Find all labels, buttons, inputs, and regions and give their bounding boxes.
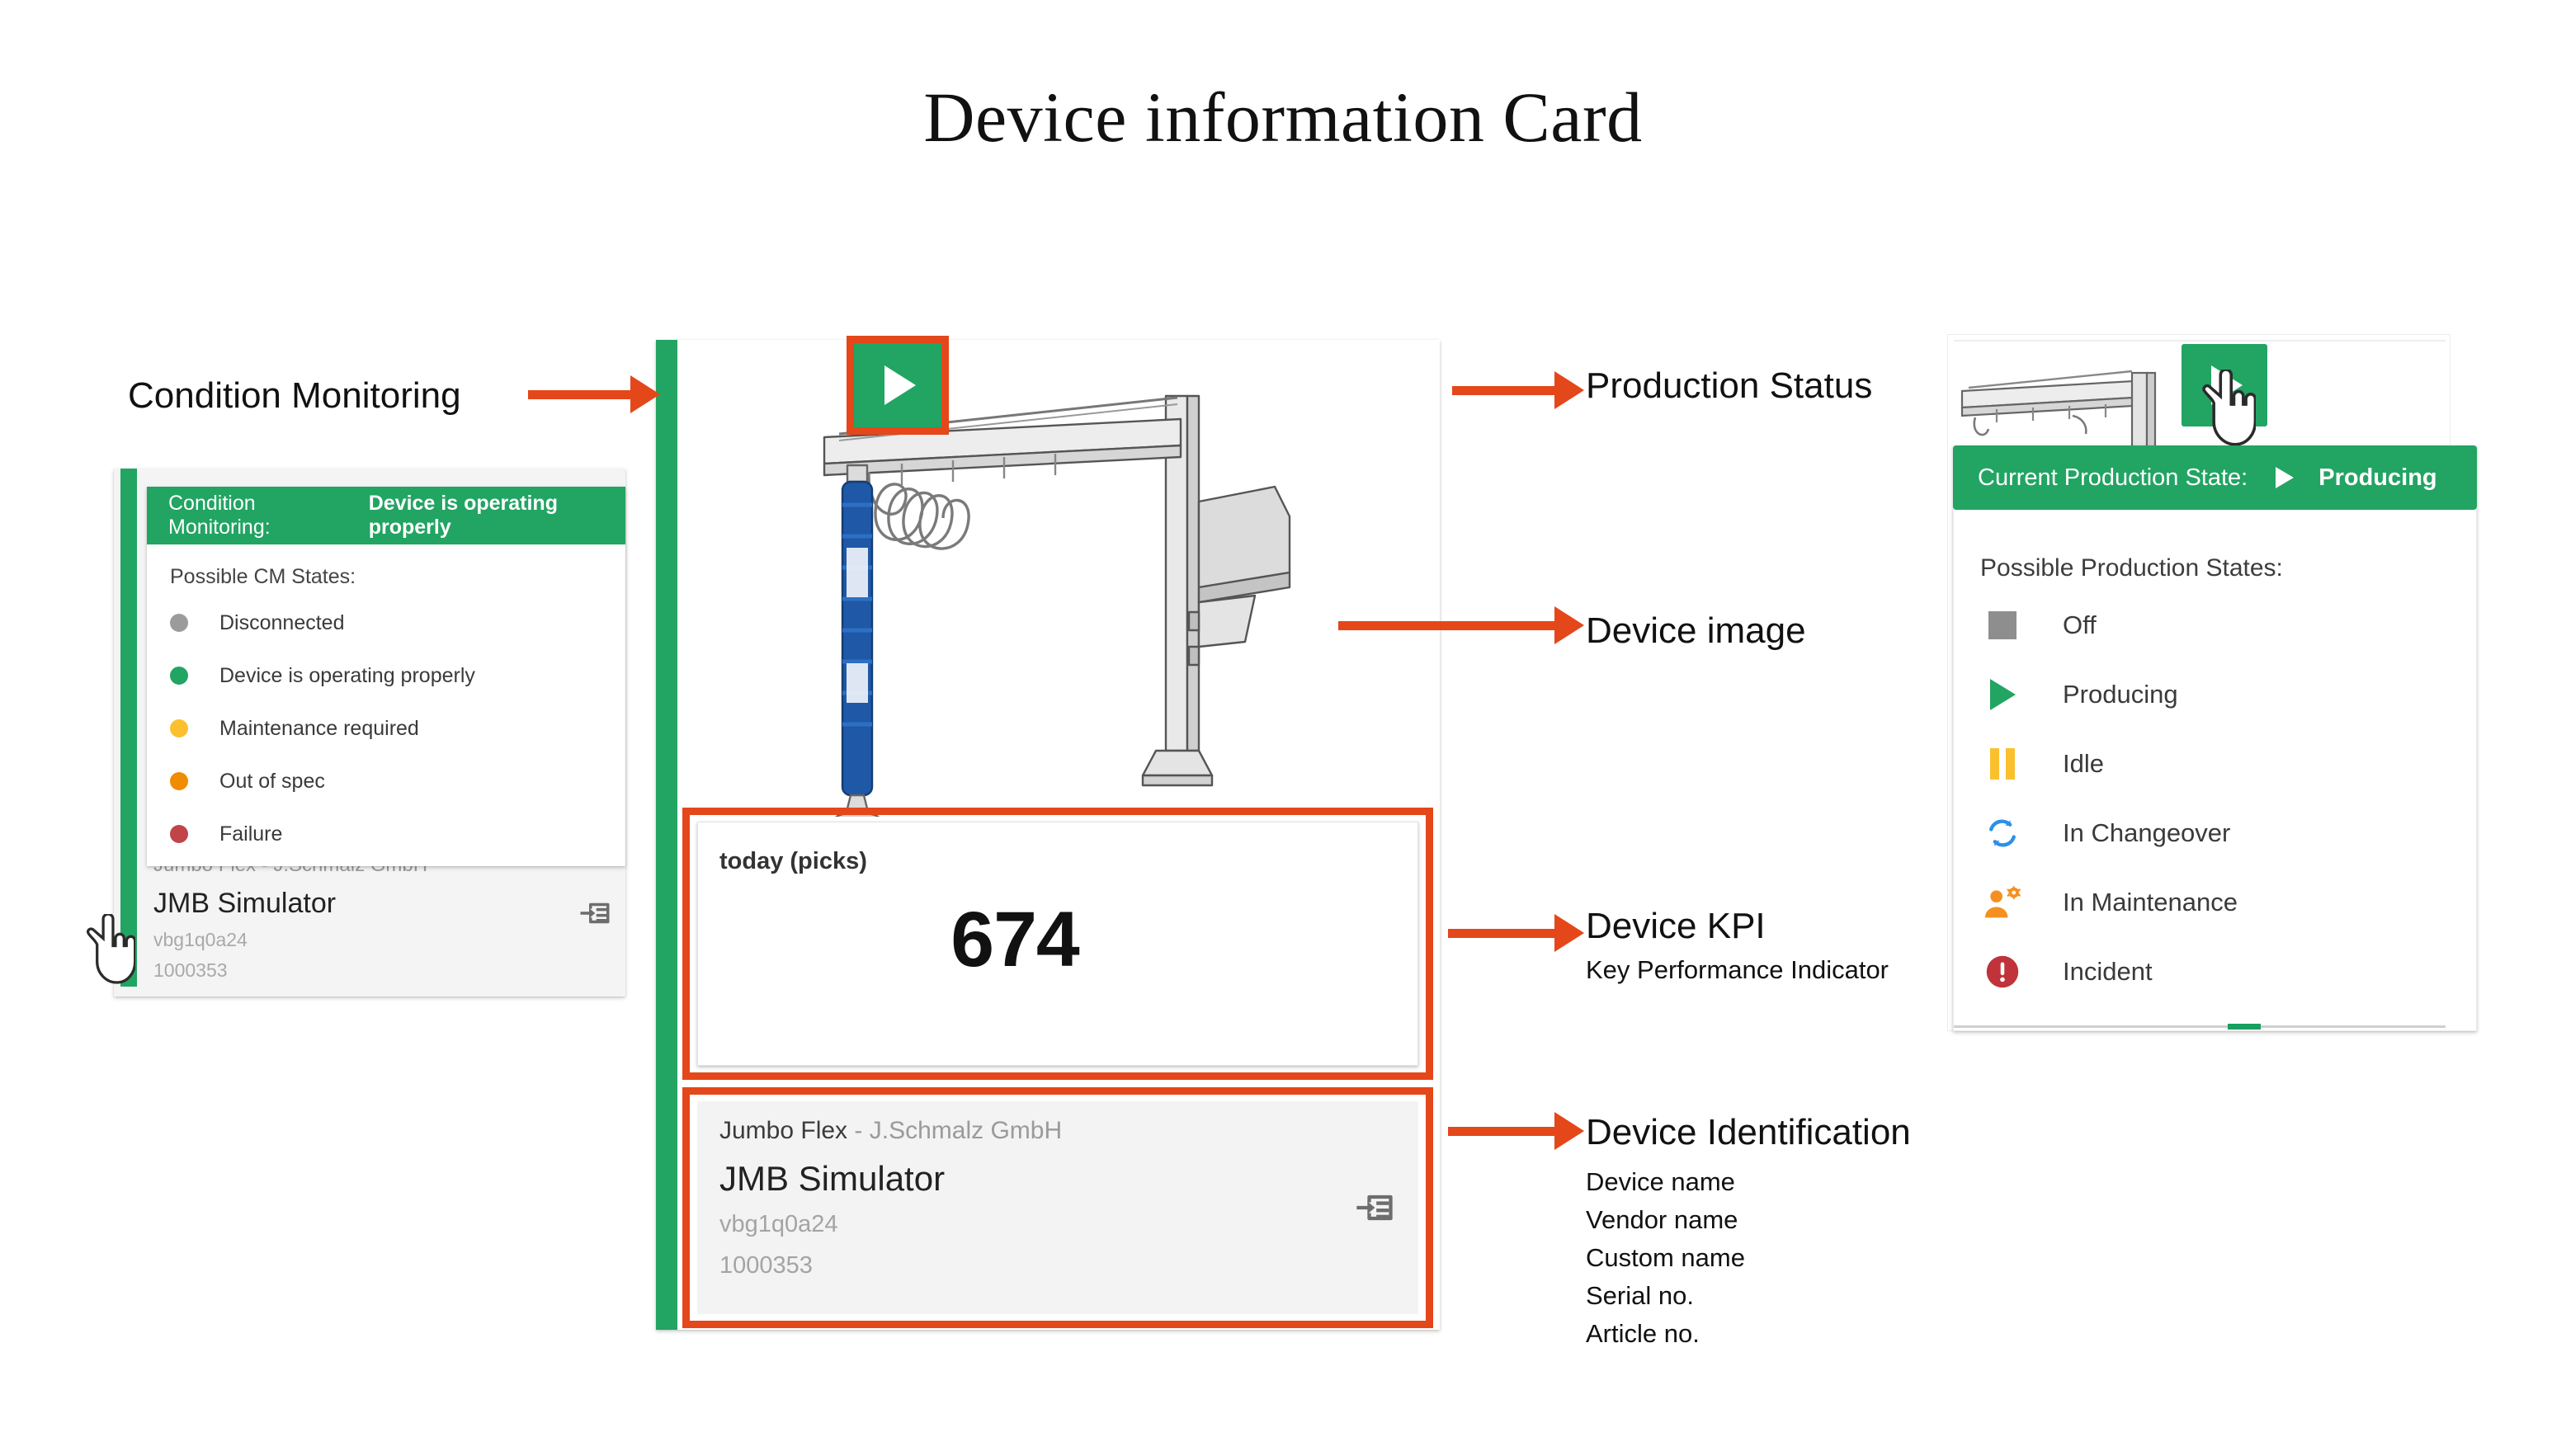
annotation-identification-fields: Device name Vendor name Custom name Seri… bbox=[1586, 1163, 1745, 1353]
annotation-device-kpi: Device KPI bbox=[1586, 906, 1766, 947]
device-image-area bbox=[677, 340, 1440, 817]
cm-state-label: Out of spec bbox=[219, 770, 325, 794]
ps-state-label: In Maintenance bbox=[2063, 888, 2238, 917]
ps-state-item: In Changeover bbox=[1980, 810, 2442, 856]
condition-monitoring-status-bar[interactable] bbox=[656, 340, 677, 1330]
device-kpi-highlight bbox=[682, 808, 1433, 1080]
cm-state-dot-icon bbox=[170, 772, 188, 790]
ps-state-label: Idle bbox=[2063, 749, 2104, 779]
cm-state-label: Failure bbox=[219, 822, 282, 846]
annotation-device-identification: Device Identification bbox=[1586, 1112, 1911, 1153]
production-states-popover bbox=[1953, 445, 2477, 1031]
annotation-condition-monitoring: Condition Monitoring bbox=[128, 375, 461, 417]
cm-state-label: Maintenance required bbox=[219, 717, 419, 741]
background-card-article-no: 1000353 bbox=[153, 959, 508, 982]
annotation-identification-field: Article no. bbox=[1586, 1315, 1745, 1353]
worker-gear-icon bbox=[1980, 884, 2025, 921]
cm-header-value: Device is operating properly bbox=[369, 492, 625, 540]
cm-header-label: Condition Monitoring: bbox=[168, 492, 349, 540]
annotation-arrow-production-status bbox=[1452, 371, 1584, 409]
page-title: Device information Card bbox=[0, 76, 2566, 158]
stop-square-icon bbox=[1980, 611, 2025, 639]
annotation-identification-field: Vendor name bbox=[1586, 1201, 1745, 1239]
sync-arrows-icon bbox=[1980, 815, 2025, 851]
mouse-cursor-hand-icon bbox=[2201, 370, 2256, 447]
annotation-arrow-device-identification bbox=[1448, 1112, 1584, 1150]
device-image bbox=[677, 340, 1440, 817]
annotation-arrow-device-kpi bbox=[1448, 914, 1584, 952]
cm-state-dot-icon bbox=[170, 719, 188, 737]
annotation-identification-field: Device name bbox=[1586, 1163, 1745, 1201]
ps-state-item: Idle bbox=[1980, 741, 2442, 787]
alert-circle-icon bbox=[1980, 954, 2025, 989]
pause-icon bbox=[1980, 748, 2025, 780]
ps-state-item: Incident bbox=[1980, 949, 2442, 995]
ps-state-item: Off bbox=[1980, 602, 2442, 648]
ps-header-value: Producing bbox=[2318, 464, 2436, 492]
ps-state-label: Producing bbox=[2063, 680, 2178, 709]
annotation-arrow-device-image bbox=[1338, 606, 1584, 644]
background-card-status-bar bbox=[120, 469, 137, 987]
background-card-serial-no: vbg1q0a24 bbox=[153, 929, 508, 951]
cm-state-dot-icon bbox=[170, 614, 188, 632]
ps-header-label: Current Production State: bbox=[1978, 464, 2248, 492]
cm-state-item: Disconnected bbox=[170, 606, 550, 639]
device-identification-highlight bbox=[682, 1087, 1433, 1328]
production-states-popover-header: Current Production State: Producing bbox=[1953, 445, 2477, 510]
ps-state-item: In Maintenance bbox=[1980, 879, 2442, 926]
background-card-device-name: JMB Simulator bbox=[153, 888, 508, 920]
cm-state-item: Failure bbox=[170, 818, 550, 851]
open-details-icon-small[interactable] bbox=[578, 896, 612, 935]
annotation-production-status: Production Status bbox=[1586, 365, 1872, 407]
cm-state-label: Disconnected bbox=[219, 611, 344, 635]
cm-state-item: Maintenance required bbox=[170, 712, 550, 745]
play-icon bbox=[1980, 679, 2025, 710]
play-icon bbox=[2276, 467, 2294, 488]
cm-state-dot-icon bbox=[170, 825, 188, 843]
mouse-cursor-hand-icon bbox=[86, 914, 135, 985]
cm-state-label: Device is operating properly bbox=[219, 664, 475, 688]
production-status-highlight bbox=[847, 336, 949, 435]
ps-state-label: Off bbox=[2063, 610, 2097, 640]
cm-state-item: Out of spec bbox=[170, 765, 550, 798]
annotation-identification-field: Serial no. bbox=[1586, 1277, 1745, 1315]
ps-state-label: In Changeover bbox=[2063, 818, 2230, 848]
annotation-device-image: Device image bbox=[1586, 610, 1806, 652]
cm-state-item: Device is operating properly bbox=[170, 659, 550, 692]
ps-state-label: Incident bbox=[2063, 957, 2153, 987]
ps-state-item: Producing bbox=[1980, 671, 2442, 718]
annotation-device-kpi-sub: Key Performance Indicator bbox=[1586, 955, 1889, 985]
cm-state-dot-icon bbox=[170, 667, 188, 685]
annotation-identification-field: Custom name bbox=[1586, 1239, 1745, 1277]
annotation-arrow-condition-monitoring bbox=[528, 375, 660, 413]
background-card-divider bbox=[1954, 340, 2446, 342]
ps-list-title: Possible Production States: bbox=[1980, 554, 2376, 582]
background-card-bottom-accent bbox=[2228, 1024, 2261, 1030]
condition-monitoring-popover-header: Condition Monitoring: Device is operatin… bbox=[147, 487, 625, 544]
background-card-bottom-divider bbox=[1954, 1025, 2446, 1028]
cm-list-title: Possible CM States: bbox=[170, 565, 517, 589]
